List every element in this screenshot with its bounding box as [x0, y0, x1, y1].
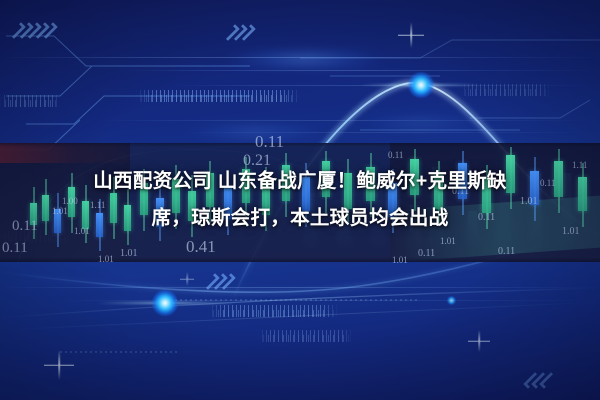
headline-line-1: 山西配资公司 山东备战广厦！鲍威尔+克里斯缺 — [0, 163, 600, 200]
headline-text: 山西配资公司 山东备战广厦！鲍威尔+克里斯缺 席，琼斯会打，本土球员均会出战 — [0, 163, 600, 237]
headline-line-2: 席，琼斯会打，本土球员均会出战 — [0, 200, 600, 237]
banner-image: 0.110.210.410.110.111.011.001.111.011.01… — [0, 0, 600, 400]
